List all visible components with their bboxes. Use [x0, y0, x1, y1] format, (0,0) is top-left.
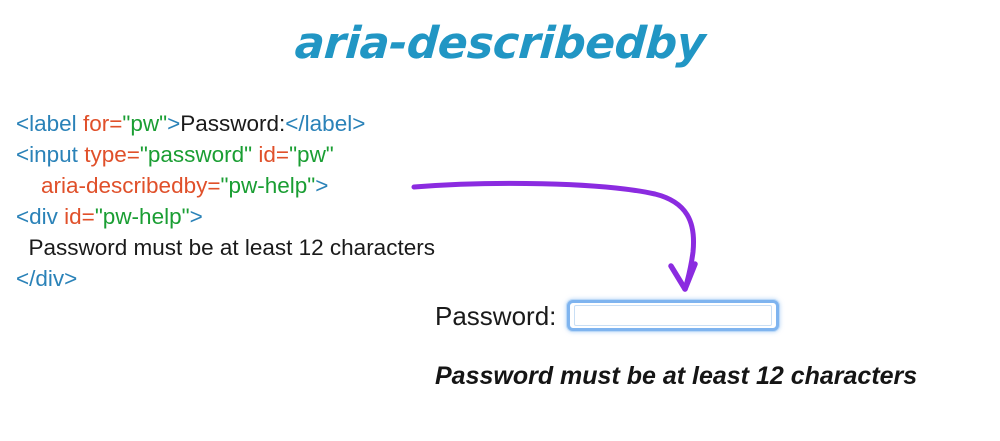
code-line: Password must be at least 12 characters [16, 232, 435, 263]
demo-password-input[interactable] [574, 305, 772, 326]
code-token-attr: id= [258, 142, 289, 167]
code-line: </div> [16, 263, 435, 294]
code-token-tag: <input [16, 142, 84, 167]
code-token-attr: aria-describedby= [41, 173, 220, 198]
code-token-attr: for= [83, 111, 122, 136]
code-token-tag: > [190, 204, 203, 229]
describedby-link-arrow [400, 160, 720, 310]
code-line: <input type="password" id="pw" [16, 139, 435, 170]
code-token-text: Password must be at least 12 characters [29, 235, 435, 260]
code-token-val: "password" [140, 142, 252, 167]
demo-password-help-text: Password must be at least 12 characters [435, 362, 917, 391]
code-line: <div id="pw-help"> [16, 201, 435, 232]
code-line: <label for="pw">Password:</label> [16, 108, 435, 139]
code-token-val: "pw-help" [221, 173, 316, 198]
code-token-attr: type= [84, 142, 140, 167]
code-token-tag: > [167, 111, 180, 136]
code-token-val: "pw" [289, 142, 334, 167]
demo-password-field-row: Password: [435, 300, 779, 331]
code-token-tag: </div> [16, 266, 77, 291]
code-sample: <label for="pw">Password:</label><input … [16, 108, 435, 294]
slide-canvas: aria-describedby <label for="pw">Passwor… [0, 0, 1000, 441]
code-token-text: Password: [180, 111, 285, 136]
code-token-tag: <div [16, 204, 64, 229]
code-indent [16, 235, 29, 260]
code-token-val: "pw" [122, 111, 167, 136]
page-title: aria-describedby [0, 18, 1000, 69]
code-token-tag: > [315, 173, 328, 198]
demo-password-input-focus-ring [567, 300, 779, 331]
code-token-tag: </label> [285, 111, 365, 136]
code-token-attr: id= [64, 204, 95, 229]
demo-password-label: Password: [435, 303, 556, 329]
code-token-tag: <label [16, 111, 83, 136]
code-indent [16, 173, 41, 198]
code-line: aria-describedby="pw-help"> [16, 170, 435, 201]
code-token-val: "pw-help" [95, 204, 190, 229]
